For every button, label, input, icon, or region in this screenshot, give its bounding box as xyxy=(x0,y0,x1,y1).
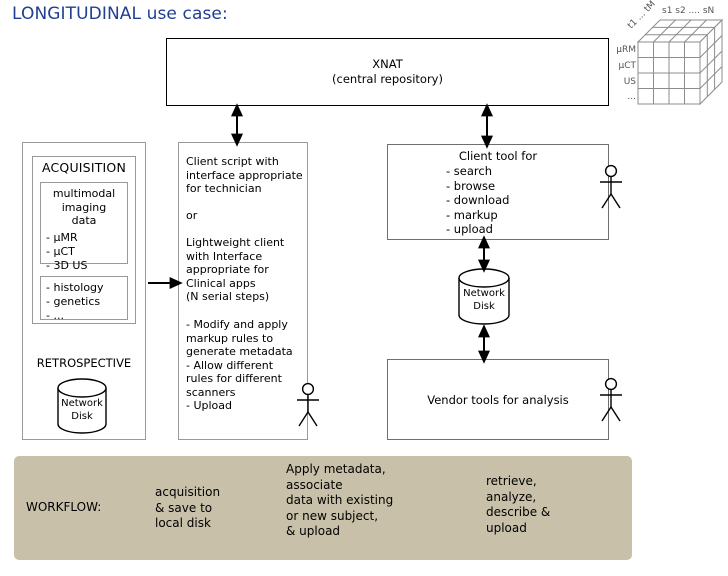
workflow-step-metadata: Apply metadata, associate data with exis… xyxy=(286,462,393,540)
client-script-bullets: - Modify and apply markup rules to gener… xyxy=(186,318,310,413)
cube-row-label-us: US xyxy=(600,77,636,87)
network-disk-line1: Network xyxy=(455,288,513,301)
actor-researcher-icon xyxy=(597,164,625,212)
vendor-tools-label: Vendor tools for analysis xyxy=(427,393,569,407)
xnat-central-repository-box[interactable]: XNAT (central repository) xyxy=(166,38,609,106)
xnat-subtitle: (central repository) xyxy=(332,72,443,87)
retrospective-network-disk: Network Disk xyxy=(54,378,110,434)
retrospective-disk-label: Network Disk xyxy=(54,398,110,423)
workflow-step-analysis: retrieve, analyze, describe & upload xyxy=(486,474,550,536)
multimodal-imaging-box: multimodal imaging data - µMR - µCT - 3D… xyxy=(40,182,128,264)
client-tool-items: - search - browse - download - markup - … xyxy=(446,164,509,237)
xnat-box-text: XNAT (central repository) xyxy=(332,57,443,87)
network-disk-line2: Disk xyxy=(455,301,513,314)
workflow-step-acquisition: acquisition & save to local disk xyxy=(155,485,220,532)
actor-analyst-icon xyxy=(597,377,625,425)
acquisition-title: ACQUISITION xyxy=(32,160,136,175)
vendor-tools-box[interactable]: Vendor tools for analysis xyxy=(387,359,609,440)
page-title: LONGITUDINAL use case: xyxy=(12,4,228,24)
diagram-canvas: LONGITUDINAL use case: XNAT (central rep… xyxy=(0,0,728,576)
imaging-modalities-list: - µMR - µCT - 3D US xyxy=(41,231,127,273)
other-data-box: - histology - genetics - ... xyxy=(40,276,128,320)
workflow-label: WORKFLOW: xyxy=(26,500,101,514)
retro-disk-line1: Network xyxy=(54,398,110,411)
imaging-heading: multimodal imaging data xyxy=(41,187,127,228)
xnat-name: XNAT xyxy=(332,57,443,72)
network-disk-label: Network Disk xyxy=(455,288,513,313)
retrospective-title: RETROSPECTIVE xyxy=(22,356,146,370)
cube-row-label-urm: µRM xyxy=(600,45,636,55)
cube-row-label-uct: µCT xyxy=(600,61,636,71)
stick-figure-icon xyxy=(597,164,625,212)
cube-subject-axis-label: s1 s2 .... sN xyxy=(662,6,714,16)
actor-technician-icon xyxy=(294,382,322,430)
client-script-description: Client script with interface appropriate… xyxy=(186,155,306,304)
network-disk: Network Disk xyxy=(455,268,513,326)
stick-figure-icon xyxy=(294,382,322,430)
data-cube-graphic: s1 s2 .... sN t1 ... tM µRM µCT US ... xyxy=(608,2,728,122)
stick-figure-icon xyxy=(597,377,625,425)
cube-row-label-more: ... xyxy=(600,92,636,102)
retro-disk-line2: Disk xyxy=(54,411,110,424)
client-tool-title: Client tool for xyxy=(387,149,609,163)
